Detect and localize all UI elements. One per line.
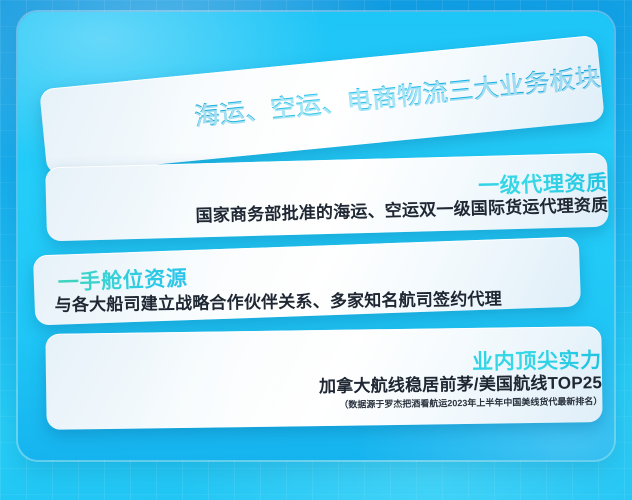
- agency-qualification-text: 国家商务部批准的海运、空运双一级国际货运代理资质: [195, 195, 608, 227]
- headline-title: 海运、空运、电商物流三大业务板块: [193, 64, 602, 132]
- top-strength-heading: 业内顶尖实力: [472, 349, 602, 374]
- agency-qualification-card: 一级代理资质 国家商务部批准的海运、空运双一级国际货运代理资质: [45, 153, 609, 242]
- first-hand-space-heading: 一手舱位资源: [58, 267, 188, 295]
- agency-qualification-heading: 一级代理资质: [478, 171, 608, 198]
- top-strength-text: 加拿大航线稳居前茅/美国航线TOP25: [319, 372, 602, 397]
- top-strength-card: 业内顶尖实力 加拿大航线稳居前茅/美国航线TOP25 （数据源于罗杰把酒看航运2…: [45, 326, 602, 430]
- top-strength-source-note: （数据源于罗杰把酒看航运2023年上半年中国美线货代最新排名）: [339, 394, 602, 411]
- poster-root: 海运、空运、电商物流三大业务板块 一级代理资质 国家商务部批准的海运、空运双一级…: [0, 0, 632, 500]
